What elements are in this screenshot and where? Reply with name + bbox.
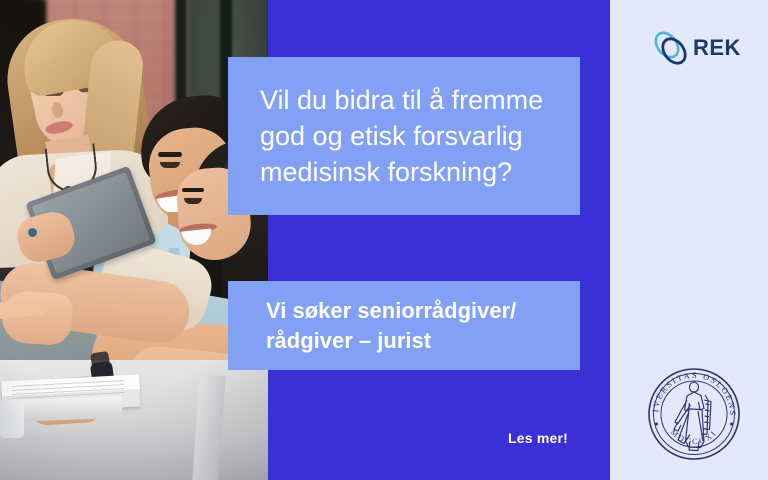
headline-line-1: Vil du bidra til å fremme: [260, 82, 543, 118]
rek-logo[interactable]: REK: [650, 26, 736, 70]
rek-interlocking-loops-icon: [650, 27, 692, 69]
read-more-link[interactable]: Les mer!: [508, 430, 568, 446]
rek-wordmark: REK: [693, 35, 741, 61]
job-title-line-1: Vi søker seniorrådgiver/: [266, 296, 516, 326]
job-title-line-2: rådgiver – jurist: [266, 326, 516, 356]
headline-line-3: medisinsk forskning?: [260, 154, 543, 190]
headline-text: Vil du bidra til å fremme god og etisk f…: [228, 82, 543, 190]
job-title-box: Vi søker seniorrådgiver/ rådgiver – juri…: [228, 281, 580, 370]
uio-seal: UNIVERSITAS OSLOENSIS MDCCCXI: [642, 362, 746, 466]
job-title-text: Vi søker seniorrådgiver/ rådgiver – juri…: [228, 296, 516, 356]
headline-line-2: god og etisk forsvarlig: [260, 118, 543, 154]
headline-box: Vil du bidra til å fremme god og etisk f…: [228, 57, 580, 215]
recruitment-banner: Vil du bidra til å fremme god og etisk f…: [0, 0, 768, 480]
